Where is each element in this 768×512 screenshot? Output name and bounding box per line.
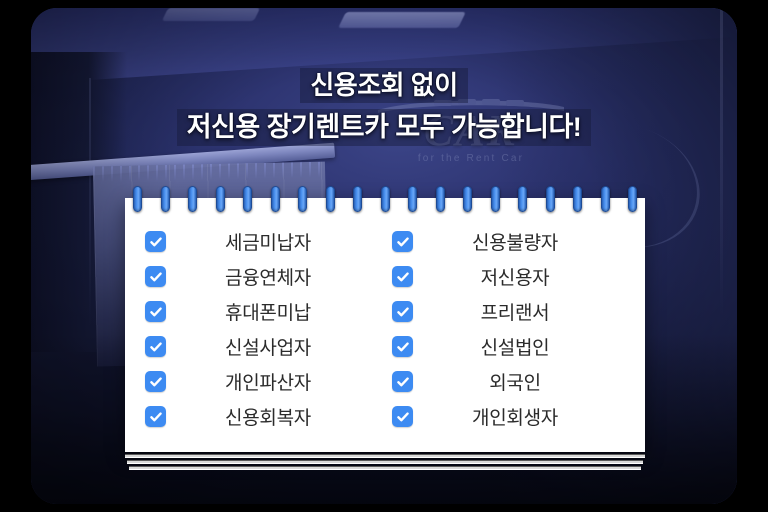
- page-stack-edges: [125, 454, 645, 470]
- spiral-ring: [573, 186, 582, 212]
- checklist-item[interactable]: 신설법인: [392, 329, 625, 364]
- checklist-item[interactable]: 신용회복자: [145, 399, 378, 434]
- checklist-item[interactable]: 외국인: [392, 364, 625, 399]
- checklist-item[interactable]: 프리랜서: [392, 294, 625, 329]
- spiral-ring: [216, 186, 225, 212]
- spiral-ring: [518, 186, 527, 212]
- checkbox-checked-icon[interactable]: [392, 266, 413, 287]
- page-stack-layer: [125, 454, 645, 458]
- headline-line-2: 저신용 장기렌트카 모두 가능합니다!: [177, 109, 592, 146]
- checklist-item[interactable]: 저신용자: [392, 259, 625, 294]
- checkbox-checked-icon[interactable]: [145, 406, 166, 427]
- checklist-column-left: 세금미납자금융연체자휴대폰미납신설사업자개인파산자신용회복자: [145, 224, 378, 434]
- checkbox-checked-icon[interactable]: [392, 371, 413, 392]
- spiral-ring: [353, 186, 362, 212]
- page-stack-layer: [127, 460, 643, 464]
- spiral-binding-rings: [125, 186, 645, 212]
- checklist-item[interactable]: 세금미납자: [145, 224, 378, 259]
- checklist-item-label: 프리랜서: [413, 298, 625, 325]
- spiral-ring: [326, 186, 335, 212]
- checklist-item[interactable]: 신설사업자: [145, 329, 378, 364]
- spiral-ring: [188, 186, 197, 212]
- spiral-ring: [491, 186, 500, 212]
- checkbox-checked-icon[interactable]: [392, 336, 413, 357]
- spiral-ring: [271, 186, 280, 212]
- checkbox-checked-icon[interactable]: [145, 301, 166, 322]
- page-stack-layer: [129, 466, 641, 470]
- spiral-ring: [408, 186, 417, 212]
- spiral-ring: [161, 186, 170, 212]
- checklist-item-label: 신용불량자: [413, 228, 625, 255]
- checklist-item-label: 개인회생자: [413, 403, 625, 430]
- spiral-ring: [601, 186, 610, 212]
- spiral-ring: [436, 186, 445, 212]
- promo-banner: CAR for the Rent Car 신용조회 없이 저신용 장기렌트카 모…: [31, 8, 737, 504]
- checkbox-checked-icon[interactable]: [392, 301, 413, 322]
- spiral-ring: [243, 186, 252, 212]
- checklist-item-label: 외국인: [413, 368, 625, 395]
- checklist-item-label: 신설사업자: [166, 333, 378, 360]
- checkbox-checked-icon[interactable]: [145, 266, 166, 287]
- spiral-ring: [628, 186, 637, 212]
- checklist-grid: 세금미납자금융연체자휴대폰미납신설사업자개인파산자신용회복자 신용불량자저신용자…: [145, 224, 625, 434]
- checklist-item-label: 개인파산자: [166, 368, 378, 395]
- headline-line-1: 신용조회 없이: [300, 68, 467, 103]
- checklist-item[interactable]: 개인회생자: [392, 399, 625, 434]
- checklist-item-label: 휴대폰미납: [166, 298, 378, 325]
- checklist-item[interactable]: 개인파산자: [145, 364, 378, 399]
- screenshot-stage: CAR for the Rent Car 신용조회 없이 저신용 장기렌트카 모…: [0, 0, 768, 512]
- checklist-column-right: 신용불량자저신용자프리랜서신설법인외국인개인회생자: [392, 224, 625, 434]
- checklist-item[interactable]: 휴대폰미납: [145, 294, 378, 329]
- checklist-item-label: 저신용자: [413, 263, 625, 290]
- notepad: 세금미납자금융연체자휴대폰미납신설사업자개인파산자신용회복자 신용불량자저신용자…: [125, 198, 645, 470]
- checklist-item[interactable]: 신용불량자: [392, 224, 625, 259]
- checklist-item-label: 신설법인: [413, 333, 625, 360]
- headline-block: 신용조회 없이 저신용 장기렌트카 모두 가능합니다!: [31, 68, 737, 146]
- spiral-ring: [298, 186, 307, 212]
- checklist-item[interactable]: 금융연체자: [145, 259, 378, 294]
- checkbox-checked-icon[interactable]: [392, 231, 413, 252]
- checkbox-checked-icon[interactable]: [145, 231, 166, 252]
- spiral-ring: [463, 186, 472, 212]
- checklist-item-label: 금융연체자: [166, 263, 378, 290]
- checkbox-checked-icon[interactable]: [145, 336, 166, 357]
- spiral-ring: [381, 186, 390, 212]
- checkbox-checked-icon[interactable]: [392, 406, 413, 427]
- notepad-sheet: 세금미납자금융연체자휴대폰미납신설사업자개인파산자신용회복자 신용불량자저신용자…: [125, 198, 645, 452]
- checkbox-checked-icon[interactable]: [145, 371, 166, 392]
- checklist-item-label: 세금미납자: [166, 228, 378, 255]
- spiral-ring: [546, 186, 555, 212]
- spiral-ring: [133, 186, 142, 212]
- checklist-item-label: 신용회복자: [166, 403, 378, 430]
